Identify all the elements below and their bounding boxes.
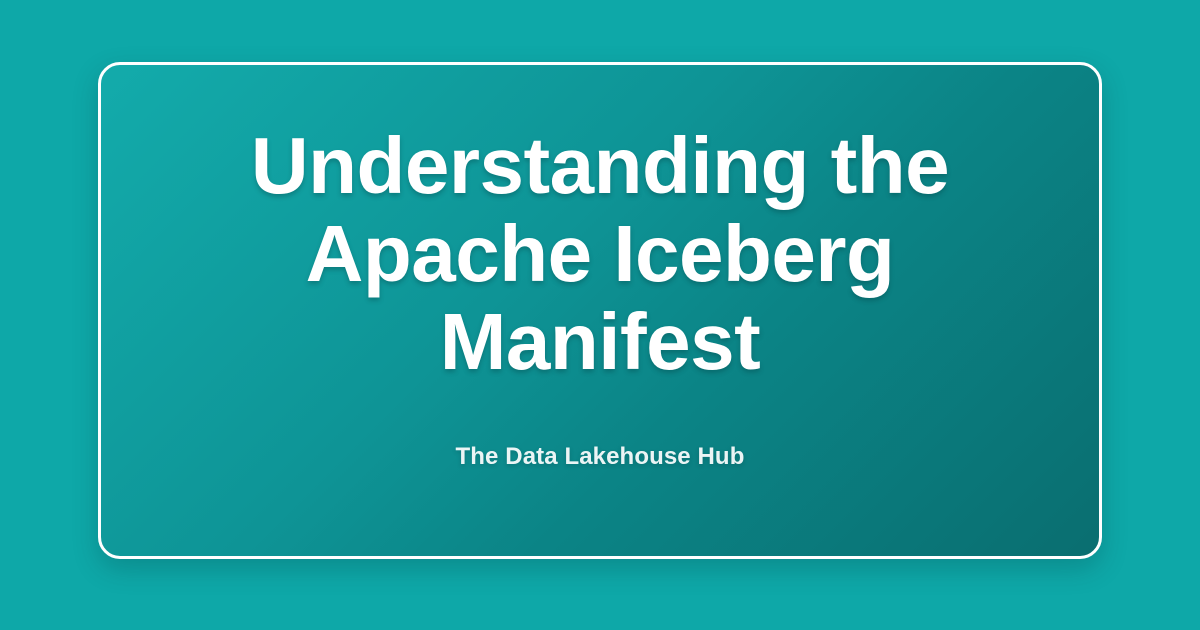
page-title: Understanding the Apache Iceberg Manifes…	[157, 122, 1043, 386]
content-card: Understanding the Apache Iceberg Manifes…	[98, 62, 1102, 559]
og-image-canvas: Understanding the Apache Iceberg Manifes…	[0, 0, 1200, 630]
card-inner: Understanding the Apache Iceberg Manifes…	[157, 122, 1043, 472]
site-name-subtitle: The Data Lakehouse Hub	[157, 386, 1043, 472]
